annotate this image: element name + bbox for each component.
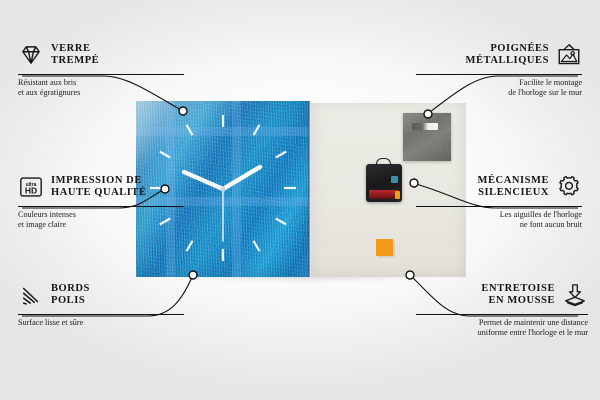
feature-title: MÉCANISME SILENCIEUX (478, 175, 549, 199)
feature-divider (18, 74, 184, 75)
feature-subtitle: Facilite le montage de l'horloge sur le … (416, 78, 582, 99)
foam-spacer (376, 239, 393, 256)
feature-header: MÉCANISME SILENCIEUX (416, 170, 582, 204)
svg-text:HD: HD (25, 186, 37, 196)
feature-title: BORDS POLIS (51, 283, 90, 307)
arrow-down-layers-icon (562, 282, 588, 308)
panel-top-edge (310, 101, 466, 103)
feature-subtitle: Surface lisse et sûre (18, 318, 184, 328)
gear-icon (556, 174, 582, 200)
handle-slot (412, 123, 438, 130)
feature-divider (416, 314, 588, 315)
diamond-icon (18, 42, 44, 68)
battery-terminal (395, 191, 400, 199)
feature-title: ENTRETOISE EN MOUSSE (481, 283, 555, 307)
panel-seam (308, 101, 311, 277)
feature-verre-trempe: VERRE TREMPÉ Résistant aux bris et aux é… (18, 38, 184, 99)
feature-divider (416, 74, 582, 75)
picture-frame-hanger-icon (556, 42, 582, 68)
feature-header: POIGNÉES MÉTALLIQUES (416, 38, 582, 72)
mechanism-dial (391, 176, 398, 183)
feature-title: POIGNÉES MÉTALLIQUES (466, 43, 549, 67)
feature-bords-polis: BORDS POLIS Surface lisse et sûre (18, 278, 184, 328)
feature-subtitle: Permet de maintenir une distance uniform… (416, 318, 588, 339)
feature-divider (18, 206, 184, 207)
feature-header: VERRE TREMPÉ (18, 38, 184, 72)
feature-header: ultra HD IMPRESSION DE HAUTE QUALITÉ (18, 170, 184, 204)
clock-mechanism (366, 164, 402, 202)
feature-subtitle: Couleurs intenses et image claire (18, 210, 184, 231)
feature-divider (416, 206, 582, 207)
feature-entretoise-en-mousse: ENTRETOISE EN MOUSSE Permet de maintenir… (416, 278, 588, 339)
feature-header: BORDS POLIS (18, 278, 184, 312)
feature-header: ENTRETOISE EN MOUSSE (416, 278, 588, 312)
feature-impression-haute-qualite: ultra HD IMPRESSION DE HAUTE QUALITÉ Cou… (18, 170, 184, 231)
polished-edges-icon (18, 282, 44, 308)
mechanism-hook (376, 158, 391, 166)
feature-divider (18, 314, 184, 315)
feature-title: VERRE TREMPÉ (51, 43, 99, 67)
infographic-canvas: VERRE TREMPÉ Résistant aux bris et aux é… (0, 0, 600, 400)
feature-mecanisme-silencieux: MÉCANISME SILENCIEUX Les aiguilles de l'… (416, 170, 582, 231)
metal-handle (403, 113, 451, 161)
feature-poignees-metalliques: POIGNÉES MÉTALLIQUES Facilite le montage… (416, 38, 582, 99)
feature-subtitle: Résistant aux bris et aux égratignures (18, 78, 184, 99)
feature-title: IMPRESSION DE HAUTE QUALITÉ (51, 175, 147, 199)
feature-subtitle: Les aiguilles de l'horloge ne font aucun… (416, 210, 582, 231)
ultra-hd-icon: ultra HD (18, 174, 44, 200)
